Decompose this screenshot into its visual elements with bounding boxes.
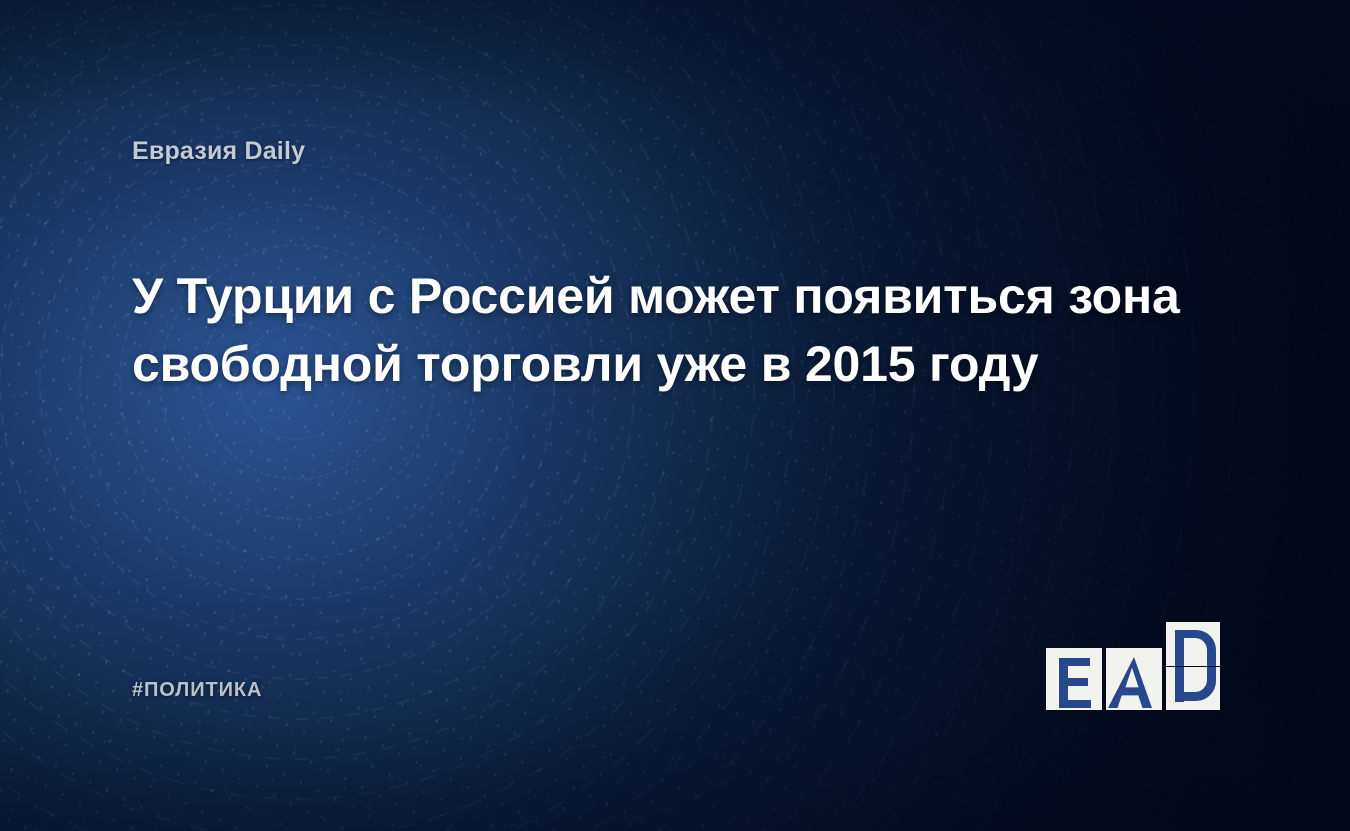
rubric-tag-politics[interactable]: #ПОЛИТИКА — [132, 679, 262, 702]
page-title: У Турции с Россией может появиться зона … — [132, 262, 1192, 398]
brand-label: Евразия Daily — [132, 137, 305, 166]
news-card: Евразия Daily У Турции с Россией может п… — [0, 0, 1350, 831]
eadaily-logo-mark — [1044, 620, 1222, 712]
card-content: Евразия Daily У Турции с Россией может п… — [0, 0, 1350, 831]
eadaily-logo[interactable] — [1044, 620, 1222, 712]
